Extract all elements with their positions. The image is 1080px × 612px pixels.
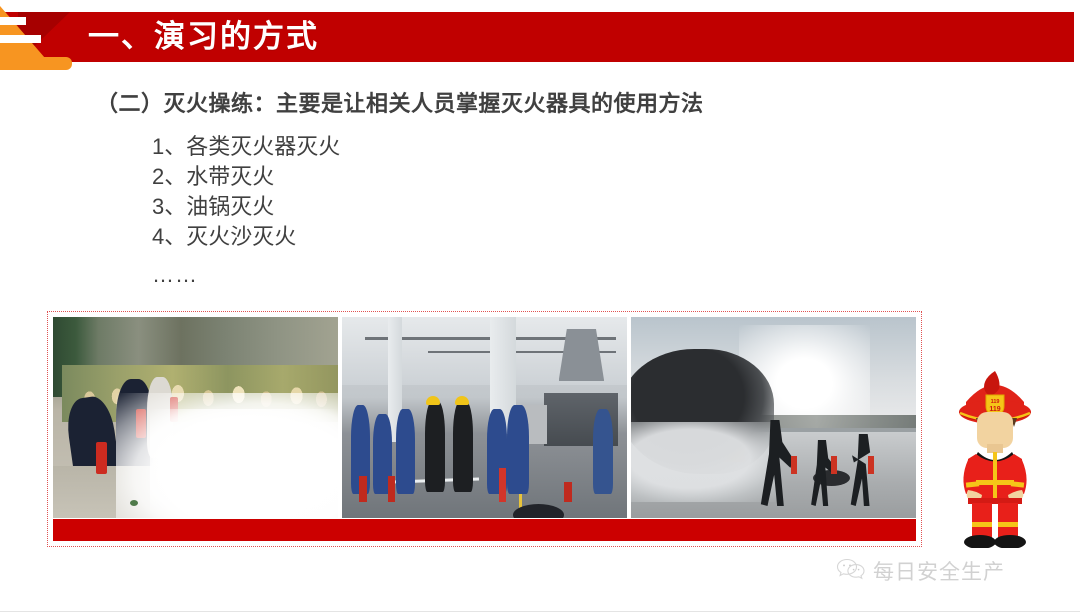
page-title: 一、演习的方式 bbox=[88, 18, 319, 56]
photo1-ground-speck bbox=[130, 500, 138, 506]
list-item: 3、油锅灭火 bbox=[152, 192, 572, 222]
photo1-extinguisher bbox=[96, 442, 107, 474]
photo-panel bbox=[47, 311, 922, 547]
photo-extinguisher-drill-school bbox=[53, 317, 338, 518]
cone-stripe-upper bbox=[0, 17, 26, 25]
list-item: 2、水带灭火 bbox=[152, 162, 572, 192]
cone-base bbox=[0, 57, 72, 70]
svg-text:119: 119 bbox=[991, 399, 1000, 405]
photo2-worker bbox=[507, 405, 528, 493]
slide-root: 一、演习的方式 （二）灭火操练：主要是让相关人员掌握灭火器具的使用方法 1、各类… bbox=[0, 0, 1080, 612]
photo3-extinguisher bbox=[868, 456, 875, 474]
watermark-text: 每日安全生产 bbox=[873, 556, 1005, 586]
photo2-burn-pan bbox=[513, 504, 564, 518]
photo3-extinguisher bbox=[791, 456, 798, 474]
svg-text:119: 119 bbox=[989, 406, 1000, 413]
photo2-worker bbox=[396, 409, 415, 493]
photo-workshop-fire-drill bbox=[342, 317, 627, 518]
photo-panel-red-bar bbox=[53, 519, 916, 541]
photo3-gray-smoke bbox=[631, 422, 779, 502]
wechat-icon bbox=[836, 557, 866, 586]
photo1-white-powder-core bbox=[150, 409, 338, 518]
firefighter-mascot: 119 119 bbox=[932, 362, 1058, 548]
traffic-cone-icon bbox=[0, 6, 72, 70]
list-item: 4、灭火沙灭火 bbox=[152, 222, 572, 252]
watermark: 每日安全生产 bbox=[836, 556, 1005, 586]
photo2-firefighter bbox=[425, 401, 445, 491]
list-item: 1、各类灭火器灭火 bbox=[152, 132, 572, 162]
cone-stripe-lower bbox=[0, 35, 41, 43]
list-ellipsis: …… bbox=[152, 260, 572, 290]
photo-outdoor-smoke-drill bbox=[631, 317, 916, 518]
photo2-worker bbox=[593, 409, 613, 493]
photo-row bbox=[53, 317, 916, 518]
photo2-yellow-helmet bbox=[455, 396, 469, 405]
drill-type-list: 1、各类灭火器灭火 2、水带灭火 3、油锅灭火 4、灭火沙灭火 …… bbox=[152, 132, 572, 290]
photo2-extinguisher bbox=[564, 482, 571, 502]
photo2-yellow-helmet bbox=[426, 396, 440, 405]
section-subtitle: （二）灭火操练：主要是让相关人员掌握灭火器具的使用方法 bbox=[96, 86, 704, 118]
photo3-extinguisher bbox=[831, 456, 838, 474]
photo2-extinguisher bbox=[359, 476, 366, 502]
photo2-extinguisher bbox=[388, 476, 395, 502]
cone-body bbox=[0, 6, 45, 58]
photo2-firefighter bbox=[453, 401, 473, 491]
photo2-extinguisher bbox=[499, 468, 506, 502]
